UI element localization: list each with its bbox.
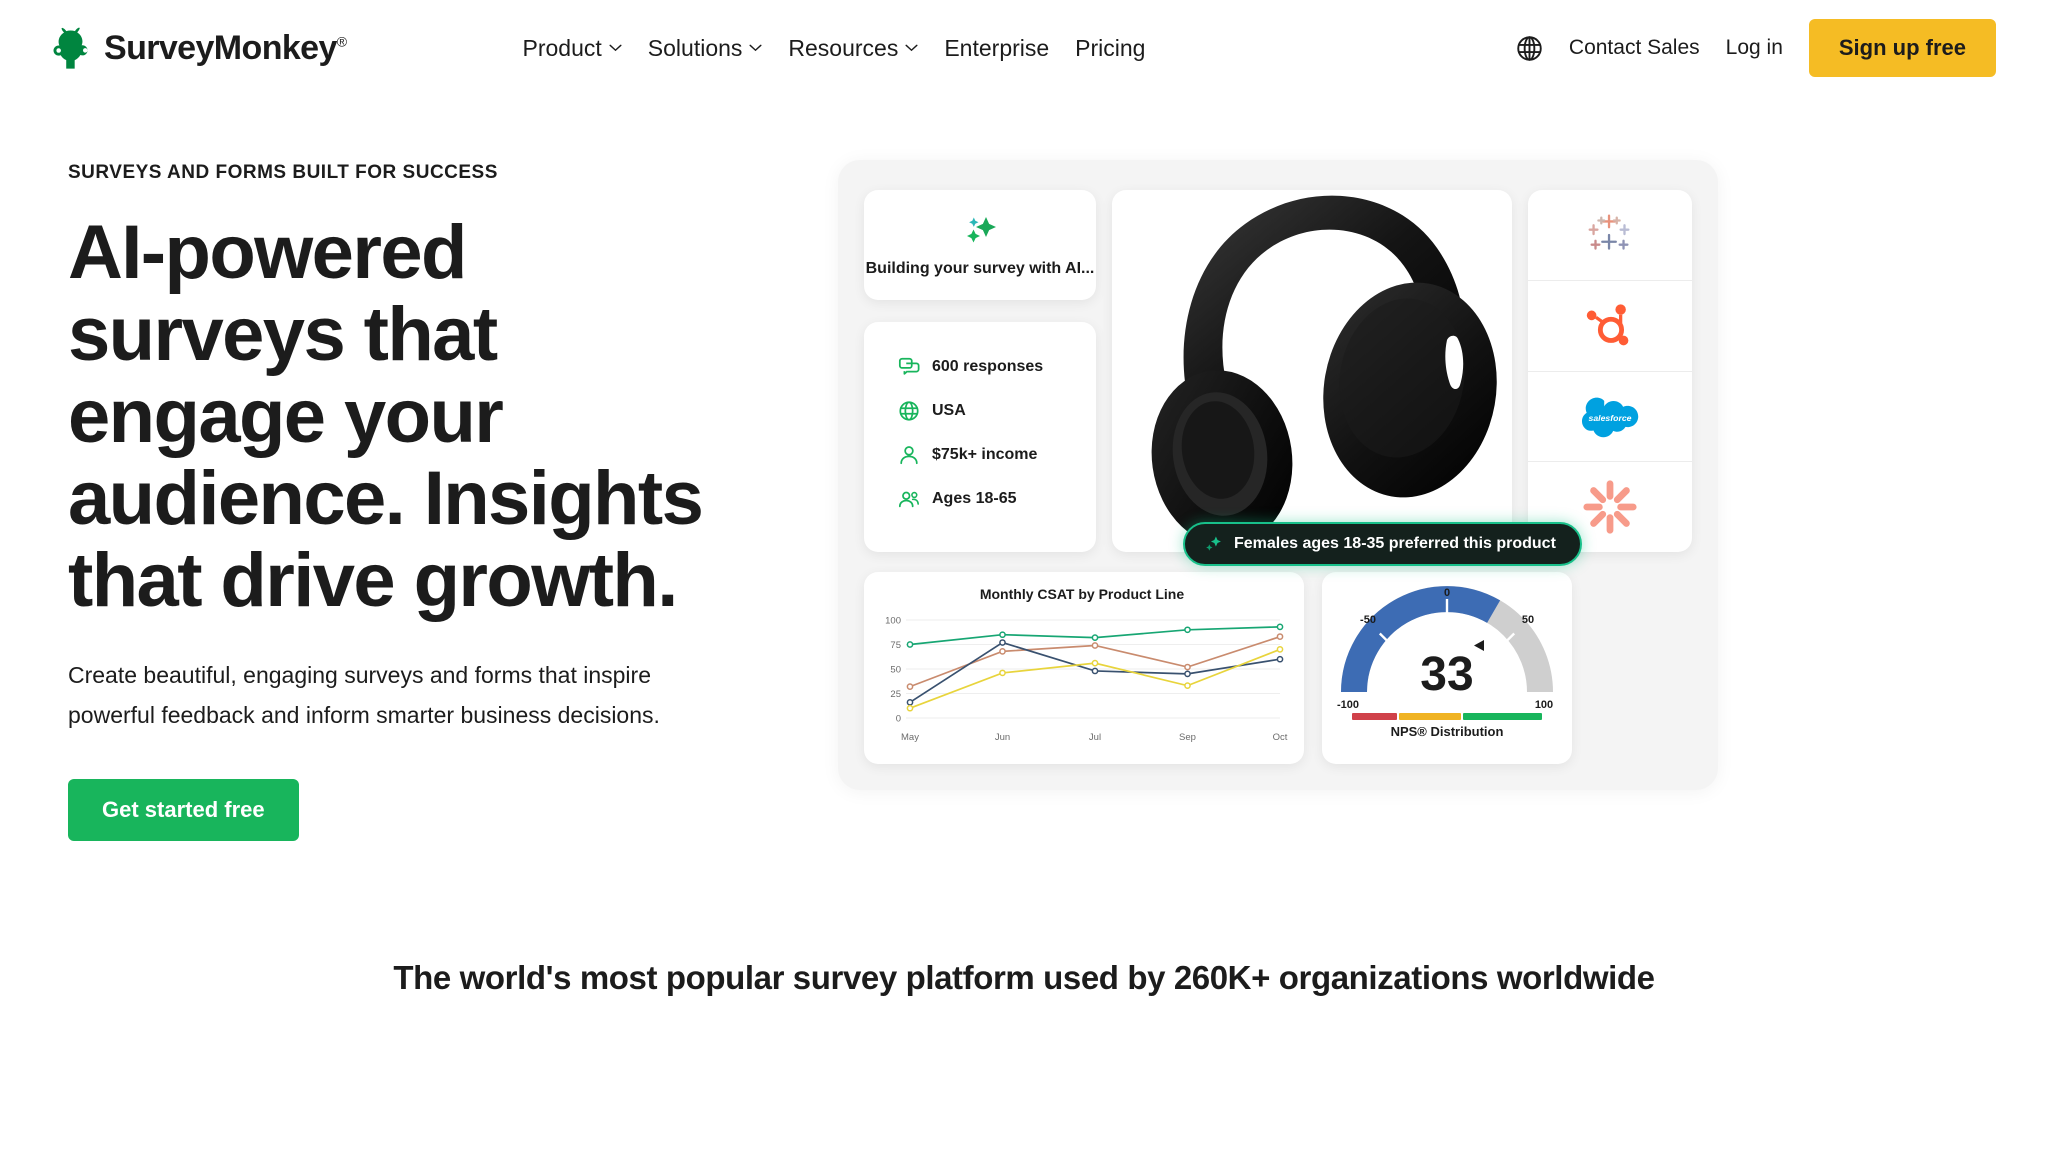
brand-logo[interactable]: SurveyMonkey® [50, 26, 347, 70]
chart-x-axis-labels: MayJunJulSepOct [901, 732, 1288, 743]
integration-tableau [1528, 190, 1692, 281]
svg-text:May: May [901, 732, 919, 743]
nav-label: Resources [788, 37, 898, 60]
site-header: SurveyMonkey® Product Solutions Resource… [0, 0, 2048, 96]
chart-point [1000, 640, 1005, 645]
chart-point [1092, 635, 1097, 640]
hero-section: SURVEYS AND FORMS BUILT FOR SUCCESS AI-p… [0, 96, 2048, 841]
contact-sales-link[interactable]: Contact Sales [1569, 36, 1700, 60]
chart-point [1277, 634, 1282, 639]
tableau-logo [1581, 206, 1639, 264]
svg-text:75: 75 [890, 640, 901, 651]
nps-caption: NPS® Distribution [1322, 724, 1572, 739]
brand-name: SurveyMonkey® [104, 29, 347, 68]
nav-item-pricing[interactable]: Pricing [1075, 37, 1145, 60]
gauge-max-label: 100 [1535, 699, 1553, 711]
chart-point [907, 700, 912, 705]
nps-passives-bar [1399, 713, 1461, 720]
main-navigation: Product Solutions Resources Enterprise P… [523, 37, 1146, 60]
chart-title: Monthly CSAT by Product Line [876, 586, 1288, 602]
svg-text:Sep: Sep [1179, 732, 1196, 743]
nav-item-product[interactable]: Product [523, 37, 622, 60]
nps-detractors-bar [1352, 713, 1397, 720]
chart-point [1092, 643, 1097, 648]
svg-text:50: 50 [890, 665, 901, 676]
chart-point [1000, 632, 1005, 637]
chart-point [1277, 657, 1282, 662]
chevron-down-icon [905, 44, 918, 52]
nav-label: Pricing [1075, 37, 1145, 60]
audience-stats-card: 600 responses USA $75k+ income [864, 322, 1096, 552]
gauge-top-label: 0 [1444, 587, 1450, 599]
audience-row: Ages 18-65 [898, 488, 1096, 510]
nps-value: 33 [1420, 648, 1473, 701]
gauge-min-label: -100 [1337, 699, 1359, 711]
chart-point [1092, 668, 1097, 673]
nav-item-resources[interactable]: Resources [788, 37, 918, 60]
chart-point [1185, 683, 1190, 688]
chart-point [907, 642, 912, 647]
csat-line-chart: 0255075100 MayJunJulSepOct [876, 606, 1288, 756]
chevron-down-icon [609, 44, 622, 52]
registered-mark: ® [337, 33, 347, 49]
chart-point [907, 706, 912, 711]
nav-label: Product [523, 37, 602, 60]
black-headphones-photo [1112, 190, 1512, 552]
chart-point [1000, 649, 1005, 654]
header-actions: Contact Sales Log in Sign up free [1516, 19, 1996, 77]
people-group-icon [898, 488, 920, 510]
nav-item-enterprise[interactable]: Enterprise [944, 37, 1049, 60]
chart-series [907, 624, 1282, 711]
asana-logo [1581, 478, 1639, 536]
audience-label: 600 responses [932, 358, 1043, 376]
nps-gauge: 0 -50 50 -100 100 33 [1322, 582, 1572, 722]
audience-row: USA [898, 400, 1096, 422]
chart-point [1000, 670, 1005, 675]
ai-building-card: Building your survey with AI... [864, 190, 1096, 300]
svg-text:Jul: Jul [1089, 732, 1101, 743]
integrations-card: salesforce [1528, 190, 1692, 552]
nav-label: Enterprise [944, 37, 1049, 60]
salesforce-logo: salesforce [1581, 387, 1639, 445]
insight-badge-text: Females ages 18-35 preferred this produc… [1234, 535, 1556, 553]
audience-label: $75k+ income [932, 446, 1037, 464]
audience-row: $75k+ income [898, 444, 1096, 466]
audience-label: Ages 18-65 [932, 490, 1017, 508]
audience-label: USA [932, 402, 966, 420]
hero-headline: AI-powered surveys that engage your audi… [68, 212, 758, 622]
chart-point [1185, 671, 1190, 676]
chart-line [910, 649, 1280, 708]
nav-label: Solutions [648, 37, 743, 60]
chart-y-axis-labels: 0255075100 [885, 616, 901, 725]
chart-point [1185, 627, 1190, 632]
dashboard-panel: Building your survey with AI... 600 resp… [838, 160, 1718, 790]
hubspot-logo [1581, 297, 1639, 355]
person-icon [898, 444, 920, 466]
svg-text:0: 0 [896, 714, 901, 725]
svg-text:25: 25 [890, 689, 901, 700]
social-proof-tagline: The world's most popular survey platform… [0, 959, 2048, 997]
chart-point [1277, 624, 1282, 629]
globe-icon[interactable] [1516, 35, 1543, 62]
csat-chart-card: Monthly CSAT by Product Line 0255075100 … [864, 572, 1304, 764]
chevron-down-icon [749, 44, 762, 52]
hero-eyebrow: SURVEYS AND FORMS BUILT FOR SUCCESS [68, 162, 788, 184]
chart-point [907, 684, 912, 689]
gauge-midhigh-label: 50 [1522, 614, 1534, 626]
svg-text:Jun: Jun [995, 732, 1010, 743]
audience-row: 600 responses [898, 356, 1096, 378]
insight-badge: Females ages 18-35 preferred this produc… [1183, 522, 1582, 566]
ai-sparkle-icon [1203, 534, 1223, 554]
nps-promoters-bar [1463, 713, 1542, 720]
svg-text:Oct: Oct [1273, 732, 1288, 743]
get-started-free-button[interactable]: Get started free [68, 779, 299, 841]
ai-card-text: Building your survey with AI... [866, 259, 1095, 279]
hero-subtitle: Create beautiful, engaging surveys and f… [68, 656, 743, 735]
globe-icon [898, 400, 920, 422]
hero-copy: SURVEYS AND FORMS BUILT FOR SUCCESS AI-p… [68, 152, 788, 841]
signup-free-button[interactable]: Sign up free [1809, 19, 1996, 77]
chart-point [1277, 647, 1282, 652]
chat-bubbles-icon [898, 356, 920, 378]
chart-point [1185, 664, 1190, 669]
nps-gauge-card: 0 -50 50 -100 100 33 NPS® Distribution [1322, 572, 1572, 764]
product-image-card [1112, 190, 1512, 552]
integration-hubspot [1528, 281, 1692, 372]
gauge-midlow-label: -50 [1360, 614, 1376, 626]
integration-salesforce: salesforce [1528, 372, 1692, 463]
salesforce-wordmark: salesforce [1589, 413, 1632, 423]
chart-point [1092, 661, 1097, 666]
ai-sparkle-icon [960, 211, 1000, 251]
hero-illustration: Building your survey with AI... 600 resp… [828, 152, 1998, 841]
surveymonkey-monkey-logo [50, 26, 94, 70]
login-link[interactable]: Log in [1726, 36, 1783, 60]
nav-item-solutions[interactable]: Solutions [648, 37, 763, 60]
svg-text:100: 100 [885, 616, 901, 627]
